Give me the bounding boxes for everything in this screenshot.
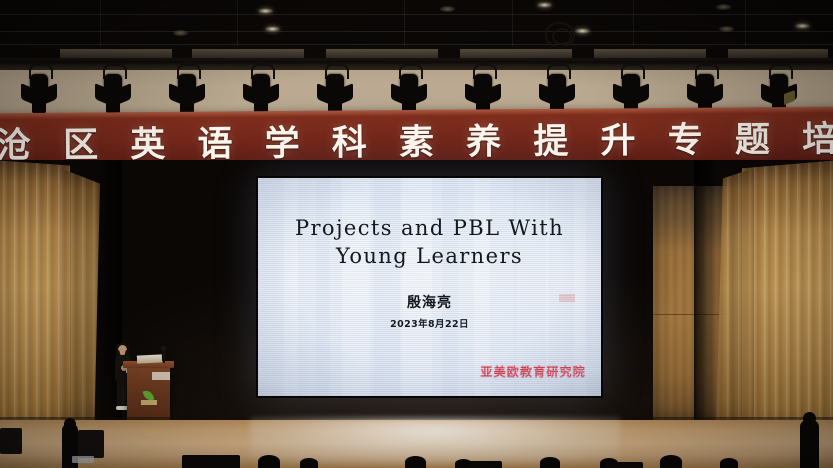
truss-gap: [192, 49, 304, 58]
stage-curtain-right: [742, 160, 833, 438]
foreground-speaker-cabinet: [0, 428, 22, 454]
audience-row-block: [182, 455, 240, 468]
stage-par-light: [96, 64, 130, 116]
truss-gap: [728, 49, 828, 58]
slide-presenter-name: 殷海亮: [407, 292, 452, 312]
ceiling-downlight-icon: [719, 26, 734, 32]
projection-screen: Projects and PBL With Young Learners 殷海亮…: [258, 178, 601, 396]
stage-par-light: [22, 64, 56, 116]
truss-gap: [594, 49, 706, 58]
foreground-operator-head: [64, 418, 76, 430]
ceiling-downlight-icon: [795, 23, 810, 29]
ceiling-downlight-icon: [537, 2, 552, 8]
leaf-plate: [141, 400, 157, 405]
foreground-person-right-head: [803, 412, 816, 425]
truss-gap: [60, 49, 172, 58]
foreground-person-right: [800, 420, 819, 468]
ceiling-downlight-icon: [716, 4, 731, 10]
stage-par-light: [318, 64, 352, 116]
auditorium-stage-photo: 李 沧 区 英 语 学 科 素 养 提 升 专 题 培 训 Projects a…: [0, 0, 833, 468]
ceiling-downlight-icon: [258, 8, 273, 14]
slide-title: Projects and PBL With Young Learners: [295, 215, 564, 271]
stage-par-light: [244, 64, 278, 116]
stage-par-light: [170, 64, 204, 116]
ceiling-downlight-icon: [265, 26, 280, 32]
audience-row-block: [607, 462, 643, 468]
slide-content: Projects and PBL With Young Learners 殷海亮…: [258, 178, 601, 396]
projection-screen-frame: Projects and PBL With Young Learners 殷海亮…: [256, 176, 603, 398]
ceiling-downlight-icon: [173, 30, 188, 36]
audience-head-silhouette: [540, 457, 560, 468]
audience-head-silhouette: [720, 458, 738, 468]
microphone-stem: [163, 349, 165, 363]
truss-gap: [460, 49, 572, 58]
truss-gap: [326, 49, 438, 58]
audience-head-silhouette: [405, 456, 426, 468]
slide-title-line2: Young Learners: [295, 243, 564, 271]
coiled-cable-icon: [545, 22, 575, 48]
stage-par-light: [466, 64, 500, 116]
slide-title-line1: Projects and PBL With: [295, 215, 564, 243]
curtain-shadow-right: [694, 160, 720, 438]
ceiling-downlight-icon: [575, 28, 590, 34]
stage-curtain-left: [0, 160, 70, 438]
podium-nameplate: [152, 372, 170, 380]
audience-head-silhouette: [660, 455, 682, 468]
podium-papers: [137, 354, 162, 363]
audience-row-block: [468, 461, 502, 468]
audience-head-silhouette: [258, 455, 280, 468]
stage-curtain-left-inner: [60, 168, 100, 428]
green-leaf-emblem-icon: [141, 389, 157, 405]
foreground-monitor: [78, 430, 104, 458]
stage-floor-highlight: [250, 418, 620, 464]
presenter-leg-split: [122, 389, 124, 407]
ceiling-downlight-icon: [440, 6, 455, 12]
stage-par-light: [392, 64, 426, 116]
audience-head-silhouette: [300, 458, 318, 468]
slide-date: 2023年8月22日: [390, 316, 469, 330]
foreground-laptop: [72, 456, 94, 463]
microphone-icon: [161, 346, 166, 351]
